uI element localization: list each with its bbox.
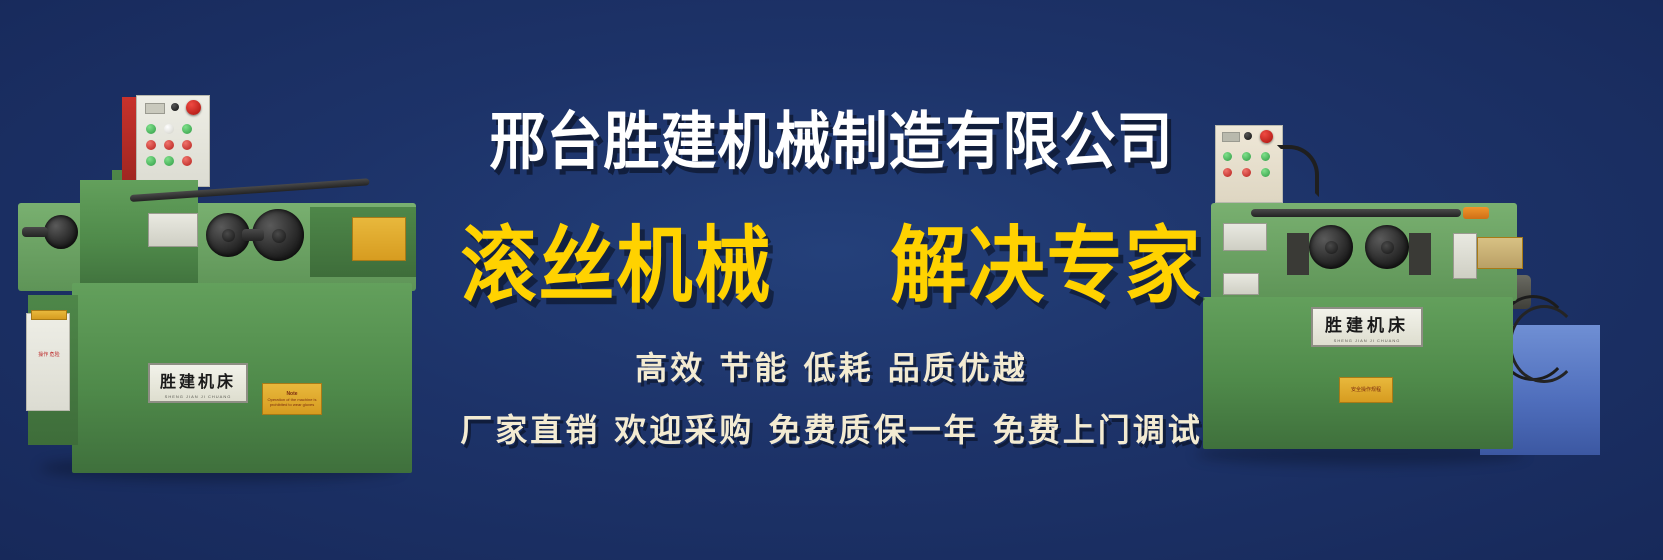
- left-panel-emergency-stop[interactable]: [186, 100, 201, 115]
- right-panel-face: [1215, 125, 1283, 203]
- right-panel-button[interactable]: [1261, 168, 1270, 177]
- right-bottom-label-text: 安全操作规程: [1351, 387, 1381, 393]
- left-cabinet-warning-text: 操作 危险: [33, 352, 65, 378]
- right-machine-hose: [1509, 305, 1579, 383]
- right-machine-orange-connector: [1463, 207, 1489, 219]
- left-panel-button[interactable]: [146, 124, 156, 134]
- left-panel-button[interactable]: [146, 156, 156, 166]
- left-nameplate-pinyin: SHENG JIAN JI CHUANG: [165, 394, 232, 399]
- right-panel-cable: [1277, 145, 1319, 197]
- left-machine-spec-plate: [148, 213, 198, 247]
- right-control-panel: [1215, 125, 1287, 203]
- headline-left: 滚丝机械: [461, 198, 773, 319]
- left-cabinet-top-label: [31, 310, 67, 320]
- right-machine-roller-hub: [1325, 241, 1338, 254]
- left-machine-rating-label: [352, 217, 406, 261]
- left-panel-button[interactable]: [164, 156, 174, 166]
- left-machine-warning-label: Note Operation of the machine is prohibi…: [262, 383, 322, 415]
- left-machine-electrical-cabinet: 操作 危险: [26, 313, 70, 411]
- left-machine-roller-hub: [272, 229, 286, 243]
- left-panel-button[interactable]: [146, 140, 156, 150]
- right-machine-brass-plate: [1477, 237, 1523, 269]
- left-nameplate-cn: 胜建机床: [160, 368, 236, 392]
- left-machine-nameplate: 胜建机床 SHENG JIAN JI CHUANG: [148, 363, 248, 403]
- left-panel-button[interactable]: [182, 124, 192, 134]
- headline-row: 滚丝机械 解决专家: [461, 203, 1203, 313]
- right-panel-button[interactable]: [1223, 152, 1232, 161]
- right-machine-spec-plate-2: [1223, 273, 1259, 295]
- right-machine-image: 胜建机床 SHENG JIAN JI CHUANG 安全操作规程: [1175, 125, 1663, 465]
- subtitle-line-2: 厂家直销 欢迎采购 免费质保一年 免费上门调试: [460, 405, 1202, 451]
- right-panel-knob[interactable]: [1244, 132, 1252, 140]
- left-machine-image: 操作 危险 胜建机床 SHENG JIAN JI CHUANG Note Ope…: [10, 85, 420, 480]
- headline-right: 解决专家: [891, 198, 1203, 319]
- right-machine-support-block: [1409, 233, 1431, 275]
- right-panel-button[interactable]: [1242, 168, 1251, 177]
- right-machine-bottom-label: 安全操作规程: [1339, 377, 1393, 403]
- subtitle-line-1: 高效 节能 低耗 品质优越: [635, 343, 1027, 389]
- right-machine-nameplate: 胜建机床 SHENG JIAN JI CHUANG: [1311, 307, 1423, 347]
- right-machine-support-block: [1287, 233, 1309, 275]
- left-warning-text: Operation of the machine is prohibited t…: [263, 397, 321, 407]
- company-name: 邢台胜建机械制造有限公司: [490, 91, 1174, 182]
- left-panel-knob[interactable]: [171, 103, 179, 111]
- left-panel-face: [136, 95, 210, 187]
- left-panel-display: [145, 103, 165, 114]
- right-panel-button[interactable]: [1261, 152, 1270, 161]
- right-machine-guide-rod: [1251, 209, 1461, 217]
- left-panel-button[interactable]: [164, 124, 174, 134]
- left-machine-end-shaft: [22, 227, 48, 237]
- right-machine-spec-plate: [1223, 223, 1267, 251]
- left-control-panel: [122, 95, 208, 187]
- right-nameplate-cn: 胜建机床: [1325, 311, 1409, 336]
- left-panel-button[interactable]: [182, 140, 192, 150]
- right-machine-valve-block: [1453, 233, 1477, 279]
- right-panel-button[interactable]: [1223, 168, 1232, 177]
- left-machine-roller-shaft: [242, 229, 264, 241]
- right-panel-button[interactable]: [1242, 152, 1251, 161]
- right-panel-emergency-stop[interactable]: [1260, 130, 1273, 143]
- right-panel-display: [1222, 132, 1240, 142]
- left-machine-roller-hub: [222, 229, 235, 242]
- left-panel-button[interactable]: [182, 156, 192, 166]
- right-machine-roller-hub: [1381, 241, 1394, 254]
- right-nameplate-pinyin: SHENG JIAN JI CHUANG: [1334, 338, 1401, 343]
- left-machine-end-pulley: [44, 215, 78, 249]
- left-panel-button[interactable]: [164, 140, 174, 150]
- promo-banner: 操作 危险 胜建机床 SHENG JIAN JI CHUANG Note Ope…: [0, 0, 1663, 560]
